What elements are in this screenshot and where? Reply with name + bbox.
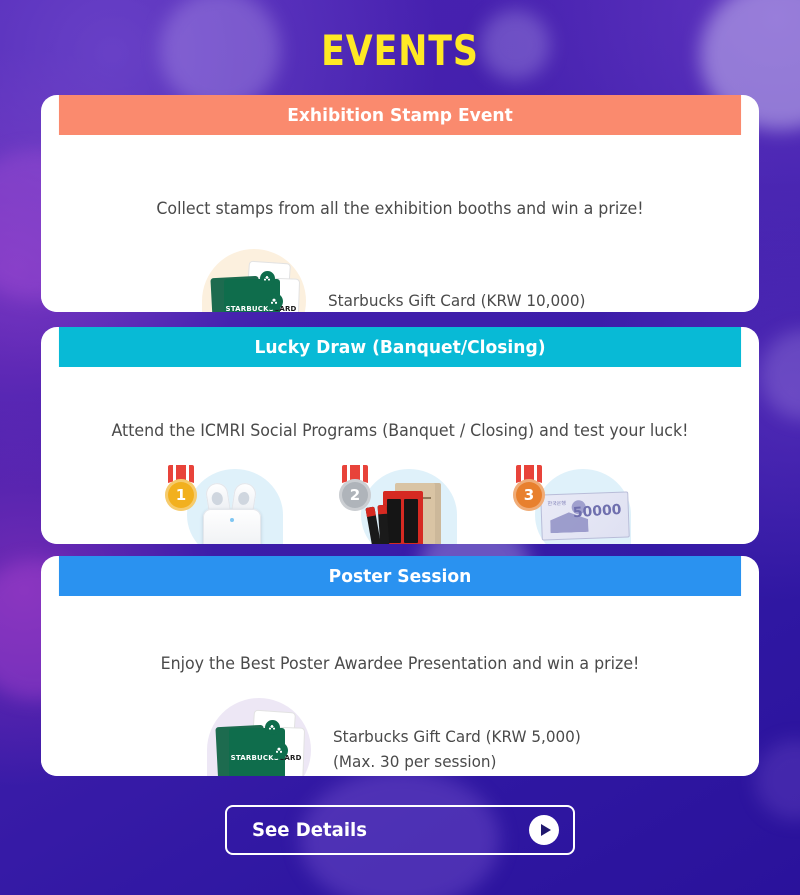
card-header-lucky-draw: Lucky Draw (Banquet/Closing) xyxy=(59,327,741,367)
prize-item-third: 한국은행 50000 3 xyxy=(509,465,639,544)
starbucks-siren-logo-icon xyxy=(265,720,280,735)
card-lucky-draw: Lucky Draw (Banquet/Closing) Attend the … xyxy=(41,327,759,544)
prize-line-1: Starbucks Gift Card (KRW 5,000) xyxy=(333,725,581,750)
play-arrow-icon[interactable] xyxy=(529,815,559,845)
starbucks-siren-logo-icon xyxy=(266,293,283,310)
gift-box-set-icon xyxy=(365,481,457,544)
bokeh-light xyxy=(755,740,800,820)
medal-rank: 1 xyxy=(165,479,197,511)
card-body-lucky-draw: Attend the ICMRI Social Programs (Banque… xyxy=(41,367,759,544)
banknote-icon: 한국은행 50000 xyxy=(541,493,629,539)
card-body-poster-session: Enjoy the Best Poster Awardee Presentati… xyxy=(41,596,759,776)
card-header-exhibition-stamp-event: Exhibition Stamp Event xyxy=(59,95,741,135)
medal-bronze-icon: 3 xyxy=(509,465,549,521)
page-title: EVENTS xyxy=(32,26,768,75)
banknote-issuer: 한국은행 xyxy=(547,500,566,508)
gift-card-label: STARBUCKSCARD xyxy=(231,754,302,762)
prize-line-2: (Max. 30 per session) xyxy=(333,750,581,775)
prize-row: STARBUCKSCARD Starbucks Gift Card (KRW 5… xyxy=(41,698,759,776)
prize-description: Starbucks Gift Card (KRW 10,000) xyxy=(328,289,585,312)
banknote-value: 50000 xyxy=(573,502,623,521)
medal-rank: 3 xyxy=(513,479,545,511)
prize-item-second: 2 xyxy=(335,465,465,544)
card-header-poster-session: Poster Session xyxy=(59,556,741,596)
banknote-paper: 한국은행 50000 xyxy=(540,491,630,540)
prize-list: 1 2 xyxy=(41,465,759,544)
prize-description: Starbucks Gift Card (KRW 5,000) (Max. 30… xyxy=(333,725,581,775)
airpods-case xyxy=(203,509,261,544)
prize-item-first: 1 xyxy=(161,465,291,544)
prize-line-1: Starbucks Gift Card (KRW 10,000) xyxy=(328,289,585,312)
card-description: Collect stamps from all the exhibition b… xyxy=(66,199,734,219)
starbucks-gift-card-icon: STARBUCKSCARD xyxy=(202,249,306,312)
see-details-label: See Details xyxy=(252,819,367,841)
card-body-exhibition-stamp-event: Collect stamps from all the exhibition b… xyxy=(41,135,759,312)
card-description: Attend the ICMRI Social Programs (Banque… xyxy=(66,421,734,441)
medal-gold-icon: 1 xyxy=(161,465,201,521)
bokeh-light xyxy=(760,330,800,420)
starbucks-siren-logo-icon xyxy=(260,271,275,286)
gift-card-label: STARBUCKSCARD xyxy=(226,305,297,312)
medal-rank: 2 xyxy=(339,479,371,511)
card-poster-session: Poster Session Enjoy the Best Poster Awa… xyxy=(41,556,759,776)
medal-silver-icon: 2 xyxy=(335,465,375,521)
card-exhibition-stamp-event: Exhibition Stamp Event Collect stamps fr… xyxy=(41,95,759,312)
starbucks-gift-card-icon: STARBUCKSCARD xyxy=(207,698,311,776)
starbucks-siren-logo-icon xyxy=(271,742,288,759)
red-gift-box xyxy=(383,491,423,544)
prize-row: STARBUCKSCARD Starbucks Gift Card (KRW 1… xyxy=(41,249,759,312)
airpods-icon xyxy=(199,483,265,544)
see-details-button[interactable]: See Details xyxy=(225,805,575,855)
card-description: Enjoy the Best Poster Awardee Presentati… xyxy=(66,654,734,674)
